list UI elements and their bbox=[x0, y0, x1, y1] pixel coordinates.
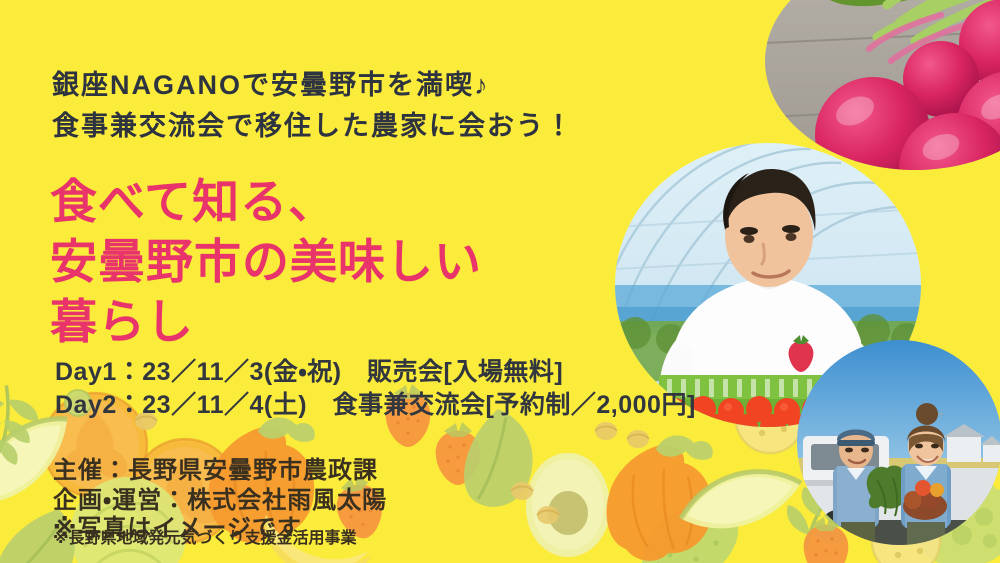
headline-line-2: 安曇野市の美味しい bbox=[50, 223, 482, 292]
schedule-day1: Day1：23／11／3(金・祝) 販売会[入場無料] bbox=[55, 352, 563, 388]
kicker-line-2: 食事兼交流会で移住した農家に会おう！ bbox=[52, 104, 574, 143]
poster-text-layer: 銀座NAGANOで安曇野市を満喫♪ 食事兼交流会で移住した農家に会おう！ 食べて… bbox=[0, 0, 1000, 563]
credit-funding-note: ※長野県地域発元気づくり支援金活用事業 bbox=[53, 524, 357, 548]
event-poster: ななしろ農園 bbox=[0, 0, 1000, 563]
kicker-line-1: 銀座NAGANOで安曇野市を満喫♪ bbox=[52, 63, 490, 102]
schedule-day2: Day2：23／11／4(土) 食事兼交流会[予約制／2,000円] bbox=[55, 385, 696, 421]
headline-line-1: 食べて知る、 bbox=[50, 163, 336, 232]
headline-line-3: 暮らし bbox=[50, 283, 194, 352]
